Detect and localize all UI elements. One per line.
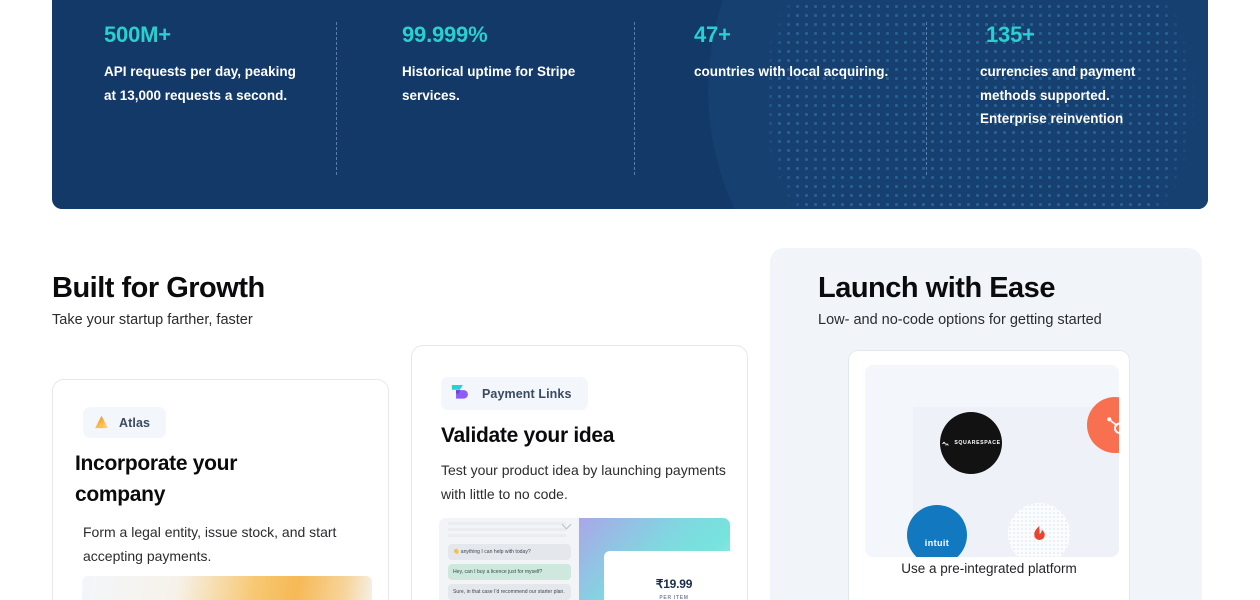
squarespace-label: SQUARESPACE — [954, 440, 1000, 446]
payment-links-icon — [451, 384, 473, 403]
price-amount: ₹19.99 — [604, 577, 730, 591]
launch-panel: Launch with Ease Low- and no-code option… — [770, 248, 1202, 600]
hubspot-sprocket-icon — [1102, 412, 1119, 438]
chat-bubble: Hey, can I buy a licence just for myself… — [448, 564, 571, 580]
atlas-triangle-icon — [93, 414, 110, 431]
growth-title: Built for Growth — [52, 272, 265, 305]
platform-card[interactable]: SQUARESPACE intuit — [848, 350, 1130, 600]
stat-value: 47+ — [694, 22, 892, 48]
price-unit-label: PER ITEM — [604, 595, 730, 600]
stat-description: currencies and payment methods supported… — [980, 60, 1178, 131]
stats-banner: 500M+ API requests per day, peaking at 1… — [52, 0, 1208, 209]
atlas-badge: Atlas — [83, 407, 166, 438]
platform-caption: Use a pre-integrated platform — [849, 561, 1129, 576]
links-card-body: Test your product idea by launching paym… — [441, 458, 731, 506]
atlas-badge-label: Atlas — [119, 416, 150, 430]
atlas-card-image — [82, 576, 372, 600]
growth-subtitle: Take your startup farther, faster — [52, 312, 265, 328]
atlas-card-heading: Incorporate your company — [75, 448, 325, 510]
chat-bubble: 👋 anything I can help with today? — [448, 544, 571, 560]
freshworks-logo — [1008, 503, 1070, 557]
stat-column: 47+ countries with local acquiring. — [630, 0, 922, 209]
launch-section-header: Launch with Ease Low- and no-code option… — [818, 272, 1102, 328]
chat-bubble: Sure, in that case I'd recommend our sta… — [448, 584, 571, 600]
stat-column: 135+ currencies and payment methods supp… — [922, 0, 1208, 209]
chat-placeholder-lines — [448, 522, 566, 537]
payment-links-badge-label: Payment Links — [482, 387, 572, 401]
checkout-preview-panel: ₹19.99 PER ITEM — [579, 518, 730, 600]
stat-description: API requests per day, peaking at 13,000 … — [104, 60, 302, 107]
stat-description: countries with local acquiring. — [694, 60, 892, 84]
platform-logo-stage: SQUARESPACE intuit — [865, 365, 1119, 557]
growth-section-header: Built for Growth Take your startup farth… — [52, 272, 265, 328]
launch-title: Launch with Ease — [818, 272, 1102, 305]
stat-value: 135+ — [980, 22, 1178, 48]
card-incorporate-company[interactable]: Atlas Incorporate your company Form a le… — [52, 379, 389, 600]
page-root: 500M+ API requests per day, peaking at 1… — [0, 0, 1260, 600]
payment-links-badge: Payment Links — [441, 377, 588, 410]
stat-value: 500M+ — [104, 22, 302, 48]
stat-value: 99.999% — [402, 22, 600, 48]
price-card: ₹19.99 PER ITEM — [604, 551, 730, 600]
freshworks-flame-icon — [1032, 525, 1047, 543]
squarespace-icon — [941, 439, 950, 448]
chat-mockup-image: 👋 anything I can help with today? Hey, c… — [439, 518, 730, 600]
atlas-card-body: Form a legal entity, issue stock, and st… — [83, 520, 373, 568]
squarespace-logo: SQUARESPACE — [940, 412, 1002, 474]
chat-conversation-panel: 👋 anything I can help with today? Hey, c… — [439, 518, 579, 600]
intuit-label: intuit — [925, 538, 949, 548]
launch-subtitle: Low- and no-code options for getting sta… — [818, 312, 1102, 328]
card-validate-idea[interactable]: Payment Links Validate your idea Test yo… — [411, 345, 748, 600]
links-card-heading: Validate your idea — [441, 420, 614, 451]
intuit-logo: intuit — [907, 505, 967, 557]
stat-column: 99.999% Historical uptime for Stripe ser… — [332, 0, 630, 209]
stat-description: Historical uptime for Stripe services. — [402, 60, 600, 107]
stats-row: 500M+ API requests per day, peaking at 1… — [52, 0, 1208, 209]
stat-column: 500M+ API requests per day, peaking at 1… — [52, 0, 332, 209]
